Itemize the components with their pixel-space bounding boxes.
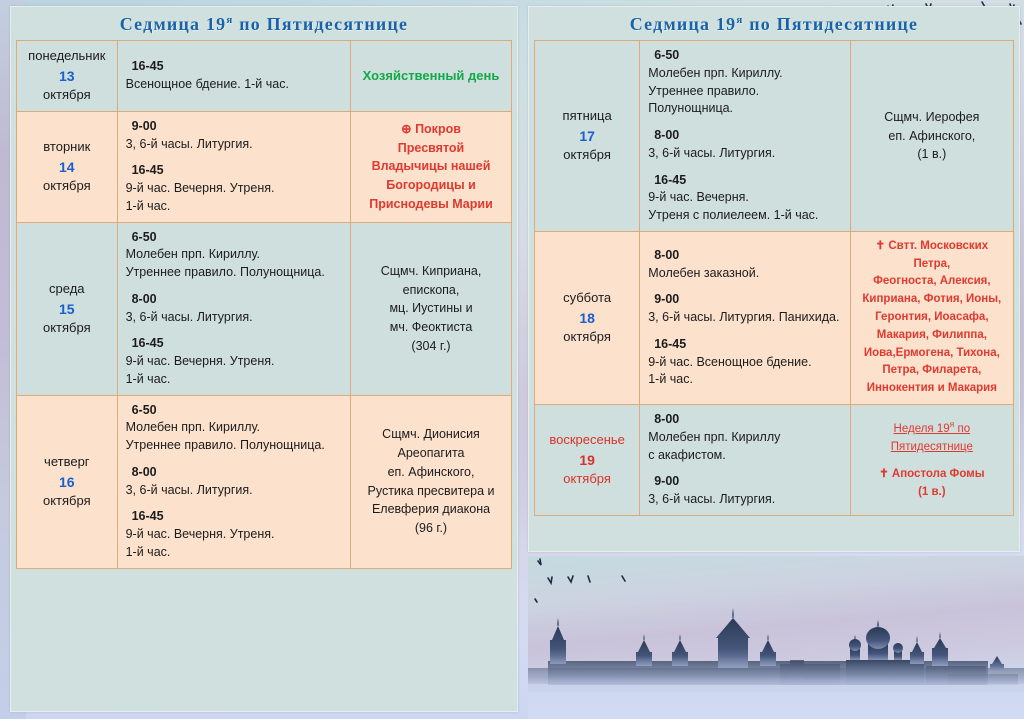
month-label: октября xyxy=(563,329,611,344)
note-line: Пресвятой xyxy=(359,139,503,158)
day-number: 14 xyxy=(25,157,109,177)
service-line: Утреннее правило. Полунощница. xyxy=(126,437,342,455)
service-block: 6-50Молебен прп. Кириллу.Утреннее правил… xyxy=(126,402,342,455)
service-line: 9-й час. Вечерня. Утреня. xyxy=(126,353,342,371)
note-line: Сщмч. Иерофея xyxy=(859,108,1005,127)
service-time: 8-00 xyxy=(126,464,342,482)
service-line: Утреня с полиелеем. 1-й час. xyxy=(648,207,841,225)
note-cell: Сщмч. Киприана,епископа,мц. Иустины имч.… xyxy=(351,222,512,395)
table-row: суббота18октября8-00Молебен заказной.9-0… xyxy=(535,231,1014,404)
note-line: Иова,Ермогена, Тихона, xyxy=(859,345,1005,363)
schedule-panel-left: Седмица 19я по Пятидесятнице понедельник… xyxy=(10,6,518,712)
service-block: 9-003, 6-й часы. Литургия. xyxy=(126,118,342,154)
note-cell: Хозяйственный день xyxy=(351,41,512,112)
day-number: 13 xyxy=(25,66,109,86)
sunday-title-link-line2[interactable]: Пятидесятнице xyxy=(859,439,1005,457)
service-block: 16-459-й час. Вечерня. Утреня.1-й час. xyxy=(126,162,342,215)
note-line: Приснодевы Марии xyxy=(359,195,503,214)
note-line: Елевферия диакона xyxy=(359,500,503,519)
weekday-label: понедельник xyxy=(28,48,105,63)
cross-icon: ✝ xyxy=(876,240,889,252)
day-number: 15 xyxy=(25,299,109,319)
note-line: Макария, Филиппа, xyxy=(859,327,1005,345)
table-row: пятница17октября6-50Молебен прп. Кириллу… xyxy=(535,41,1014,232)
service-line: Всенощное бдение. 1-й час. xyxy=(126,76,342,94)
note-cell: Сщмч. ДионисияАреопагитаеп. Афинского,Ру… xyxy=(351,395,512,568)
day-number: 19 xyxy=(543,450,631,470)
day-cell: среда15октября xyxy=(17,222,118,395)
note-line: Сщмч. Киприана, xyxy=(359,262,503,281)
sunday-title-part: по xyxy=(954,423,970,435)
service-time: 6-50 xyxy=(126,229,342,247)
service-line: 3, 6-й часы. Литургия. xyxy=(126,482,342,500)
service-line: 9-й час. Всенощное бдение. xyxy=(648,354,841,372)
service-line: 9-й час. Вечерня. Утреня. xyxy=(126,526,342,544)
note-cell: ✝ Свтт. Московских Петра,Феогноста, Алек… xyxy=(850,231,1013,404)
service-block: 9-003, 6-й часы. Литургия. Панихида. xyxy=(648,291,841,327)
service-line: 1-й час. xyxy=(126,198,342,216)
note-spacer xyxy=(859,456,1005,466)
note-line: Иннокентия и Макария xyxy=(859,380,1005,398)
note-line: Ареопагита xyxy=(359,444,503,463)
service-line: Молебен прп. Кириллу. xyxy=(126,246,342,264)
service-block: 16-459-й час. Вечерня.Утреня с полиелеем… xyxy=(648,172,841,225)
day-number: 16 xyxy=(25,472,109,492)
note-line: Петра, Филарета, xyxy=(859,362,1005,380)
note-cell: Сщмч. Иерофеяеп. Афинского,(1 в.) xyxy=(850,41,1013,232)
schedule-panel-right: Седмица 19я по Пятидесятнице пятница17ок… xyxy=(528,6,1020,552)
note-line: епископа, xyxy=(359,281,503,300)
month-label: октября xyxy=(43,320,91,335)
note-line: (96 г.) xyxy=(359,519,503,538)
weekday-label: суббота xyxy=(563,290,611,305)
note-cell: Неделя 19я поПятидесятнице✝ Апостола Фом… xyxy=(850,405,1013,516)
note-line: Геронтия, Иоасафа, xyxy=(859,309,1005,327)
service-line: 3, 6-й часы. Литургия. xyxy=(126,136,342,154)
service-line: Утреннее правило. Полунощница. xyxy=(648,83,841,119)
day-cell: пятница17октября xyxy=(535,41,640,232)
service-line: 1-й час. xyxy=(648,371,841,389)
service-block: 9-003, 6-й часы. Литургия. xyxy=(648,473,841,509)
service-line: Утреннее правило. Полунощница. xyxy=(126,264,342,282)
service-line: 3, 6-й часы. Литургия. xyxy=(648,491,841,509)
day-cell: понедельник13октября xyxy=(17,41,118,112)
service-line: 3, 6-й часы. Литургия. xyxy=(648,145,841,163)
services-cell: 8-00Молебен прп. Кириллу с акафистом.9-0… xyxy=(640,405,850,516)
panel-title-tail: по Пятидесятнице xyxy=(234,14,409,34)
schedule-table-right: пятница17октября6-50Молебен прп. Кириллу… xyxy=(534,40,1014,516)
panel-title-superscript: я xyxy=(226,14,233,26)
panel-title-tail: по Пятидесятнице xyxy=(744,14,919,34)
service-time: 8-00 xyxy=(126,291,342,309)
service-line: 1-й час. xyxy=(126,544,342,562)
panel-title-left: Седмица 19я по Пятидесятнице xyxy=(11,7,517,40)
service-line: 3, 6-й часы. Литургия. xyxy=(126,309,342,327)
note-line: мч. Феоктиста xyxy=(359,318,503,337)
birds-flock-left xyxy=(530,556,660,626)
service-block: 8-003, 6-й часы. Литургия. xyxy=(126,464,342,500)
weekday-label: пятница xyxy=(563,108,612,123)
month-label: октября xyxy=(43,493,91,508)
service-time: 9-00 xyxy=(126,118,342,136)
month-label: октября xyxy=(43,87,91,102)
table-row: четверг16октября6-50Молебен прп. Кириллу… xyxy=(17,395,512,568)
sunday-title-link[interactable]: Неделя 19я по xyxy=(859,418,1005,439)
day-cell: суббота18октября xyxy=(535,231,640,404)
month-label: октября xyxy=(563,147,611,162)
day-number: 17 xyxy=(543,126,631,146)
table-row: понедельник13октября16-45Всенощное бдени… xyxy=(17,41,512,112)
service-time: 9-00 xyxy=(648,291,841,309)
note-line: еп. Афинского, xyxy=(859,127,1005,146)
service-time: 8-00 xyxy=(648,127,841,145)
service-time: 16-45 xyxy=(648,336,841,354)
note-line: (1 в.) xyxy=(859,145,1005,164)
sunday-title-part: Неделя 19 xyxy=(894,423,950,435)
service-line: 3, 6-й часы. Литургия. Панихида. xyxy=(648,309,841,327)
service-line: Молебен заказной. xyxy=(648,265,841,283)
services-cell: 8-00Молебен заказной.9-003, 6-й часы. Ли… xyxy=(640,231,850,404)
weekday-label: среда xyxy=(49,281,85,296)
services-cell: 6-50Молебен прп. Кириллу.Утреннее правил… xyxy=(640,41,850,232)
note-line: мц. Иустины и xyxy=(359,299,503,318)
note-line: Богородицы и xyxy=(359,176,503,195)
service-time: 9-00 xyxy=(648,473,841,491)
table-row: вторник14октября9-003, 6-й часы. Литурги… xyxy=(17,111,512,222)
panel-title-text: Седмица 19 xyxy=(120,14,227,34)
service-line: 9-й час. Вечерня. Утреня. xyxy=(126,180,342,198)
note-line: Феогноста, Алексия, xyxy=(859,273,1005,291)
note-line: ⊕ Покров xyxy=(359,120,503,139)
services-cell: 9-003, 6-й часы. Литургия.16-459-й час. … xyxy=(117,111,350,222)
service-time: 6-50 xyxy=(648,47,841,65)
day-cell: вторник14октября xyxy=(17,111,118,222)
service-block: 16-459-й час. Вечерня. Утреня.1-й час. xyxy=(126,508,342,561)
service-time: 8-00 xyxy=(648,411,841,429)
service-block: 8-003, 6-й часы. Литургия. xyxy=(648,127,841,163)
panel-title-superscript: я xyxy=(736,14,743,26)
table-row: воскресенье19октября8-00Молебен прп. Кир… xyxy=(535,405,1014,516)
service-line: 1-й час. xyxy=(126,371,342,389)
service-block: 8-00Молебен прп. Кириллу с акафистом. xyxy=(648,411,841,464)
service-line: Молебен прп. Кириллу xyxy=(648,429,841,447)
service-block: 8-003, 6-й часы. Литургия. xyxy=(126,291,342,327)
day-cell: четверг16октября xyxy=(17,395,118,568)
service-line: с акафистом. xyxy=(648,447,841,465)
month-label: октября xyxy=(563,471,611,486)
day-number: 18 xyxy=(543,308,631,328)
service-time: 16-45 xyxy=(126,58,342,76)
note-line: Хозяйственный день xyxy=(359,66,503,86)
services-cell: 16-45Всенощное бдение. 1-й час. xyxy=(117,41,350,112)
service-block: 16-459-й час. Всенощное бдение.1-й час. xyxy=(648,336,841,389)
service-time: 16-45 xyxy=(648,172,841,190)
weekday-label: воскресенье xyxy=(549,432,625,447)
service-line: Молебен прп. Кириллу. xyxy=(648,65,841,83)
services-cell: 6-50Молебен прп. Кириллу.Утреннее правил… xyxy=(117,395,350,568)
services-cell: 6-50Молебен прп. Кириллу.Утреннее правил… xyxy=(117,222,350,395)
note-line: (304 г.) xyxy=(359,337,503,356)
weekday-label: четверг xyxy=(44,454,90,469)
service-time: 16-45 xyxy=(126,508,342,526)
month-label: октября xyxy=(43,178,91,193)
cross-icon: ✝ xyxy=(879,468,892,480)
panel-title-right: Седмица 19я по Пятидесятнице xyxy=(529,7,1019,40)
service-time: 8-00 xyxy=(648,247,841,265)
note-line: Киприана, Фотия, Ионы, xyxy=(859,291,1005,309)
service-block: 16-45Всенощное бдение. 1-й час. xyxy=(126,58,342,94)
day-cell: воскресенье19октября xyxy=(535,405,640,516)
service-line: Молебен прп. Кириллу. xyxy=(126,419,342,437)
service-time: 16-45 xyxy=(126,335,342,353)
note-line: Владычицы нашей xyxy=(359,157,503,176)
weekday-label: вторник xyxy=(43,139,90,154)
schedule-table-left: понедельник13октября16-45Всенощное бдени… xyxy=(16,40,512,569)
note-line: ✝ Апостола Фомы xyxy=(859,466,1005,484)
note-line: Рустика пресвитера и xyxy=(359,482,503,501)
service-block: 8-00Молебен заказной. xyxy=(648,247,841,283)
service-time: 16-45 xyxy=(126,162,342,180)
note-line: (1 в.) xyxy=(859,484,1005,502)
service-block: 6-50Молебен прп. Кириллу.Утреннее правил… xyxy=(648,47,841,118)
note-cell: ⊕ ПокровПресвятойВладычицы нашейБогороди… xyxy=(351,111,512,222)
note-line: еп. Афинского, xyxy=(359,463,503,482)
note-line: Сщмч. Дионисия xyxy=(359,425,503,444)
table-row: среда15октября6-50Молебен прп. Кириллу.У… xyxy=(17,222,512,395)
service-time: 6-50 xyxy=(126,402,342,420)
circled-cross-icon: ⊕ xyxy=(401,122,415,136)
service-block: 16-459-й час. Вечерня. Утреня.1-й час. xyxy=(126,335,342,388)
note-line: ✝ Свтт. Московских Петра, xyxy=(859,238,1005,274)
service-block: 6-50Молебен прп. Кириллу.Утреннее правил… xyxy=(126,229,342,282)
service-line: 9-й час. Вечерня. xyxy=(648,189,841,207)
panel-title-text: Седмица 19 xyxy=(630,14,737,34)
